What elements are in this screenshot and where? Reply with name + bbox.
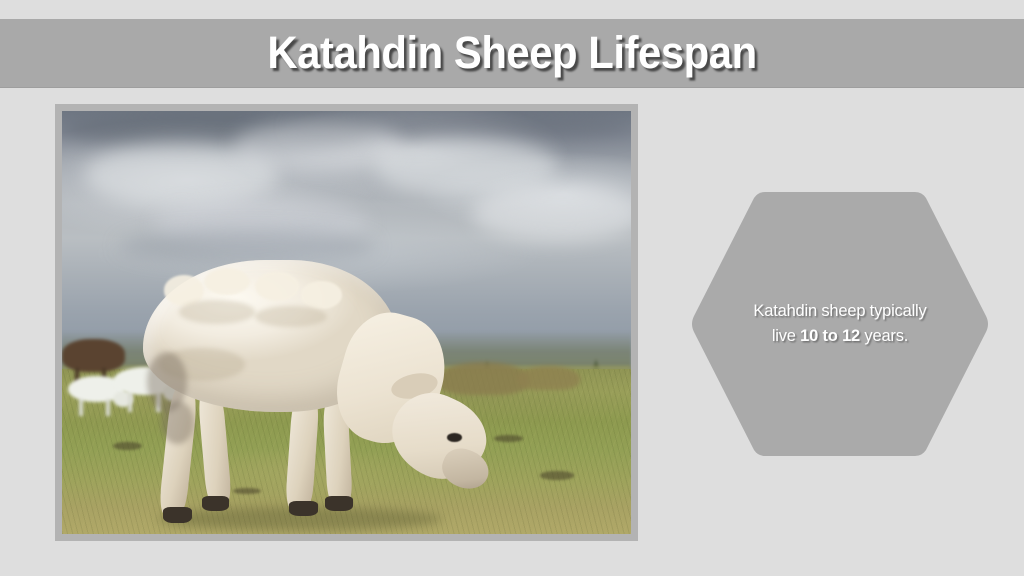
page-title: Katahdin Sheep Lifespan <box>267 29 756 77</box>
sheep-hoof <box>289 501 318 516</box>
callout-line1: Katahdin sheep typically <box>753 302 926 320</box>
cloud <box>472 185 631 244</box>
sheep-eye <box>447 433 462 442</box>
sheep-hoof <box>325 496 352 511</box>
title-banner: Katahdin Sheep Lifespan <box>0 19 1024 88</box>
slide-root: Katahdin Sheep Lifespan <box>0 0 1024 576</box>
sheep-hoof <box>163 507 192 523</box>
dirt-patch <box>540 471 574 479</box>
sheep-hoof <box>202 496 229 511</box>
callout-line2-prefix: live <box>772 327 800 345</box>
photo-frame <box>55 104 638 541</box>
main-sheep <box>136 255 500 526</box>
pasture-photo <box>62 111 631 534</box>
lifespan-callout: Katahdin sheep typically live 10 to 12 y… <box>690 190 990 458</box>
brush <box>517 366 580 391</box>
callout-text: Katahdin sheep typically live 10 to 12 y… <box>726 190 954 458</box>
callout-line2-suffix: years. <box>860 327 908 345</box>
callout-lifespan-value: 10 to 12 <box>800 327 860 345</box>
